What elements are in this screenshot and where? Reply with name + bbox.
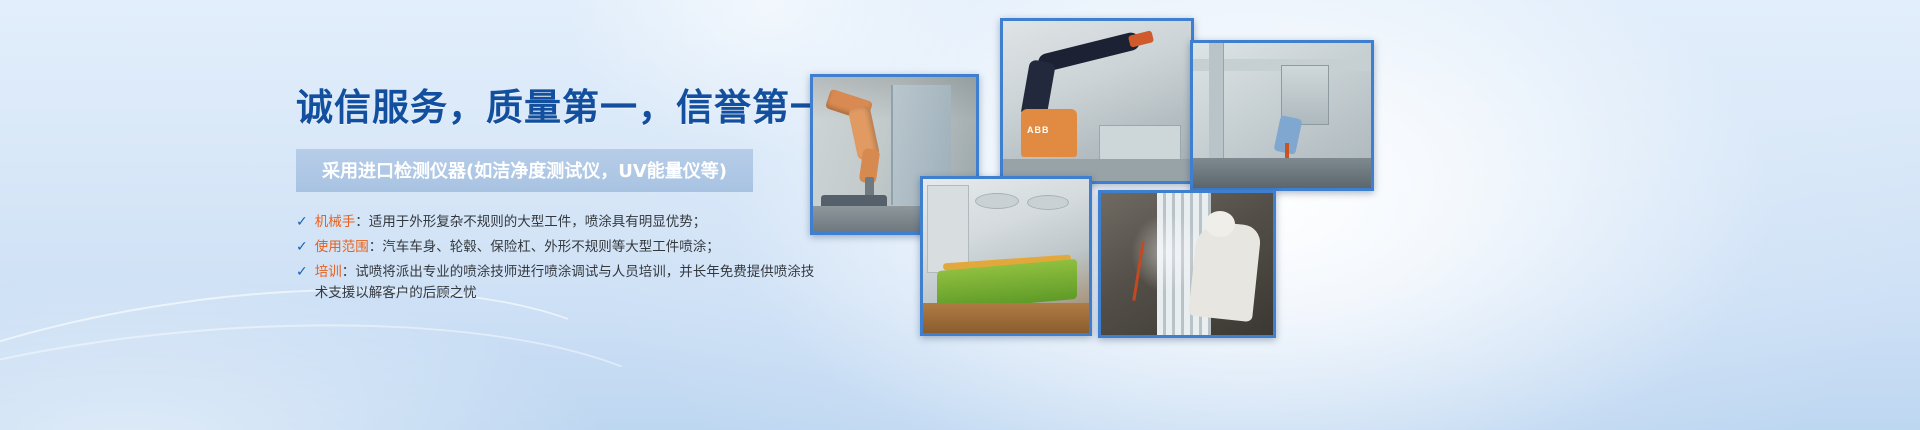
photo-conveyor-line [920,176,1092,336]
list-item: ✓ 机械手：适用于外形复杂不规则的大型工件，喷涂具有明显优势； [296,212,816,233]
page-title: 诚信服务，质量第一，信誉第一 [296,88,816,129]
list-item-text: 机械手：适用于外形复杂不规则的大型工件，喷涂具有明显优势； [315,212,816,233]
list-item-text: 使用范围：汽车车身、轮毂、保险杠、外形不规则等大型工件喷涂； [315,237,816,258]
list-item-separator: ： [355,214,369,230]
brand-label: ABB [1027,125,1050,135]
workpiece-disc [975,193,1019,209]
floor [1193,158,1371,188]
list-item-body: 适用于外形复杂不规则的大型工件，喷涂具有明显优势； [369,214,707,230]
photo-content [1101,193,1273,335]
photo-worker-spraying [1098,190,1276,338]
floor [923,303,1089,333]
list-item-lead: 机械手 [315,214,356,230]
copy-block: 诚信服务，质量第一，信誉第一 采用进口检测仪器(如洁净度测试仪，UV能量仪等) … [296,88,816,308]
list-item-separator: ： [342,264,356,280]
list-item-separator: ： [369,239,383,255]
photo-content [923,179,1089,333]
check-icon: ✓ [296,237,308,258]
list-item-lead: 培训 [315,264,342,280]
check-icon: ✓ [296,262,308,283]
subtitle-bar: 采用进口检测仪器(如洁净度测试仪，UV能量仪等) [296,149,753,192]
workpiece-disc [1027,195,1069,210]
line-machine [927,185,969,273]
list-item-text: 培训：试喷将派出专业的喷涂技师进行喷涂调试与人员培训，并长年免费提供喷涂技术支援… [315,262,816,304]
check-icon: ✓ [296,212,308,233]
worker-head [1205,211,1235,237]
list-item-body: 试喷将派出专业的喷涂技师进行喷涂调试与人员培训，并长年免费提供喷涂技术支援以解客… [315,264,815,301]
feature-list: ✓ 机械手：适用于外形复杂不规则的大型工件，喷涂具有明显优势； ✓ 使用范围：汽… [296,212,816,304]
list-item-lead: 使用范围 [315,239,369,255]
list-item: ✓ 培训：试喷将派出专业的喷涂技师进行喷涂调试与人员培训，并长年免费提供喷涂技术… [296,262,816,304]
photo-spray-booth [1190,40,1374,191]
background-swoosh-3 [0,287,715,430]
photo-content [1193,43,1371,188]
photo-abb-robot: ABB [1000,18,1194,184]
list-item: ✓ 使用范围：汽车车身、轮毂、保险杠、外形不规则等大型工件喷涂； [296,237,816,258]
photo-content: ABB [1003,21,1191,181]
promo-banner: 诚信服务，质量第一，信誉第一 采用进口检测仪器(如洁净度测试仪，UV能量仪等) … [0,0,1920,430]
list-item-body: 汽车车身、轮毂、保险杠、外形不规则等大型工件喷涂； [382,239,720,255]
